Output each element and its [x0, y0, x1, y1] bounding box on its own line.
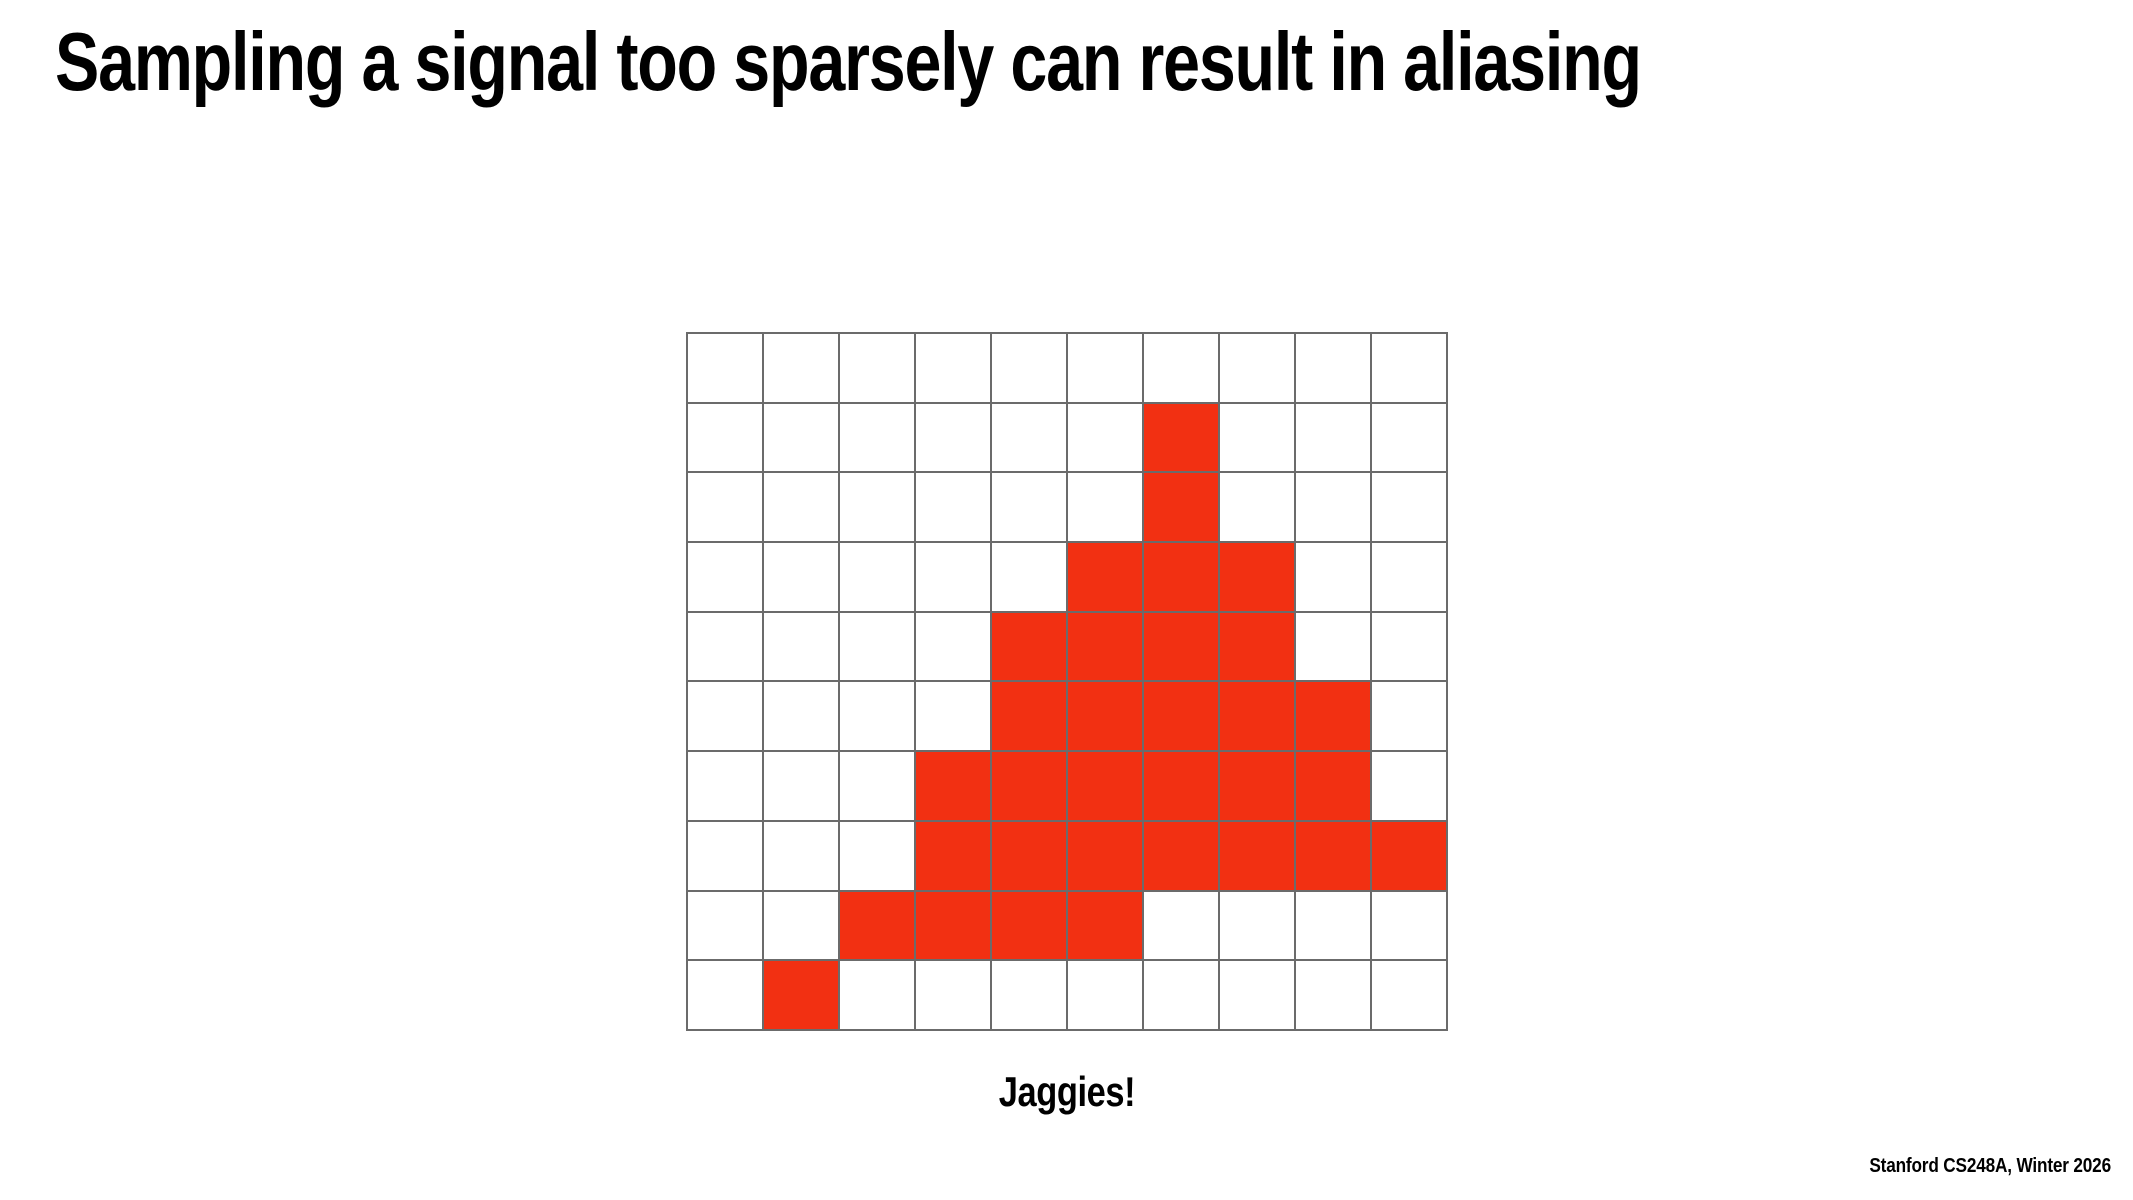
- grid-cell-empty: [764, 822, 840, 892]
- grid-cell-filled: [1144, 752, 1220, 822]
- grid-cell-filled: [1068, 822, 1144, 892]
- grid-cell-filled: [1144, 682, 1220, 752]
- grid-cell-empty: [916, 473, 992, 543]
- grid-cell-empty: [992, 961, 1068, 1031]
- grid-cell-empty: [1296, 543, 1372, 613]
- grid-cell-filled: [1144, 473, 1220, 543]
- grid-cell-empty: [1372, 543, 1448, 613]
- grid-cell-empty: [688, 682, 764, 752]
- grid-cell-empty: [688, 473, 764, 543]
- grid-cell-filled: [992, 822, 1068, 892]
- grid-cell-empty: [1144, 892, 1220, 962]
- grid-cell-filled: [916, 892, 992, 962]
- grid-cell-filled: [1372, 822, 1448, 892]
- grid-cell-empty: [688, 543, 764, 613]
- grid-cell-filled: [1144, 543, 1220, 613]
- grid-cell-filled: [992, 752, 1068, 822]
- grid-cell-filled: [916, 822, 992, 892]
- grid-cell-empty: [1296, 404, 1372, 474]
- grid-cell-filled: [1144, 404, 1220, 474]
- grid-cell-filled: [1220, 752, 1296, 822]
- grid-cell-empty: [992, 473, 1068, 543]
- grid-cell-empty: [916, 613, 992, 683]
- grid-cell-empty: [688, 822, 764, 892]
- grid-cell-filled: [916, 752, 992, 822]
- grid-cell-empty: [764, 334, 840, 404]
- grid-cell-empty: [840, 473, 916, 543]
- grid-cell-empty: [840, 961, 916, 1031]
- grid-cell-empty: [688, 961, 764, 1031]
- grid-cell-filled: [1068, 752, 1144, 822]
- grid-cell-empty: [1372, 892, 1448, 962]
- grid-cell-empty: [1068, 334, 1144, 404]
- grid-cell-empty: [764, 613, 840, 683]
- grid-cell-empty: [916, 543, 992, 613]
- grid-cell-filled: [1144, 822, 1220, 892]
- grid-cell-empty: [1372, 682, 1448, 752]
- grid-cell-filled: [992, 892, 1068, 962]
- grid-cell-empty: [764, 404, 840, 474]
- grid-caption: Jaggies!: [755, 1068, 1380, 1116]
- grid-cell-empty: [1220, 404, 1296, 474]
- grid-cell-empty: [1144, 961, 1220, 1031]
- grid-cell-empty: [840, 682, 916, 752]
- grid-cell-filled: [1144, 613, 1220, 683]
- slide-footer: Stanford CS248A, Winter 2026: [1869, 1155, 2111, 1178]
- grid-cell-empty: [916, 961, 992, 1031]
- grid-cell-empty: [1296, 961, 1372, 1031]
- grid-cell-empty: [764, 682, 840, 752]
- grid-cell-empty: [688, 334, 764, 404]
- pixel-grid: [686, 332, 1448, 1031]
- grid-cell-empty: [688, 892, 764, 962]
- grid-cell-empty: [840, 822, 916, 892]
- grid-cell-empty: [1296, 473, 1372, 543]
- grid-cell-filled: [992, 613, 1068, 683]
- grid-cell-filled: [840, 892, 916, 962]
- grid-cell-empty: [1372, 334, 1448, 404]
- grid-cell-empty: [840, 334, 916, 404]
- grid-cell-filled: [1220, 822, 1296, 892]
- grid-cell-empty: [1220, 892, 1296, 962]
- grid-cell-empty: [992, 404, 1068, 474]
- grid-cell-empty: [1372, 404, 1448, 474]
- grid-cell-filled: [1220, 543, 1296, 613]
- grid-cell-empty: [764, 473, 840, 543]
- grid-cell-empty: [1372, 473, 1448, 543]
- grid-cell-filled: [1220, 613, 1296, 683]
- grid-cell-empty: [840, 613, 916, 683]
- grid-cell-filled: [1068, 613, 1144, 683]
- grid-cell-filled: [1068, 892, 1144, 962]
- pixel-grid-container: [686, 332, 1448, 1031]
- grid-cell-empty: [1296, 892, 1372, 962]
- grid-cell-empty: [764, 752, 840, 822]
- grid-cell-empty: [916, 682, 992, 752]
- grid-cell-filled: [1296, 752, 1372, 822]
- grid-cell-filled: [764, 961, 840, 1031]
- grid-cell-empty: [1068, 961, 1144, 1031]
- grid-cell-empty: [764, 892, 840, 962]
- grid-cell-empty: [1068, 404, 1144, 474]
- grid-cell-empty: [764, 543, 840, 613]
- grid-cell-empty: [1220, 473, 1296, 543]
- grid-cell-empty: [1220, 961, 1296, 1031]
- grid-cell-filled: [1068, 543, 1144, 613]
- grid-cell-empty: [688, 613, 764, 683]
- grid-cell-empty: [1372, 961, 1448, 1031]
- grid-cell-filled: [1296, 822, 1372, 892]
- grid-cell-empty: [916, 404, 992, 474]
- grid-cell-empty: [1068, 473, 1144, 543]
- grid-cell-empty: [992, 543, 1068, 613]
- grid-cell-filled: [1068, 682, 1144, 752]
- page-title: Sampling a signal too sparsely can resul…: [55, 18, 1641, 105]
- grid-cell-empty: [1372, 613, 1448, 683]
- grid-cell-empty: [1220, 334, 1296, 404]
- grid-cell-empty: [1296, 334, 1372, 404]
- grid-cell-empty: [992, 334, 1068, 404]
- grid-cell-empty: [916, 334, 992, 404]
- grid-cell-empty: [1372, 752, 1448, 822]
- grid-cell-empty: [840, 752, 916, 822]
- grid-cell-filled: [1220, 682, 1296, 752]
- grid-cell-filled: [992, 682, 1068, 752]
- grid-cell-empty: [840, 404, 916, 474]
- grid-cell-empty: [840, 543, 916, 613]
- grid-cell-empty: [1144, 334, 1220, 404]
- grid-cell-empty: [688, 752, 764, 822]
- grid-cell-empty: [1296, 613, 1372, 683]
- grid-cell-filled: [1296, 682, 1372, 752]
- grid-cell-empty: [688, 404, 764, 474]
